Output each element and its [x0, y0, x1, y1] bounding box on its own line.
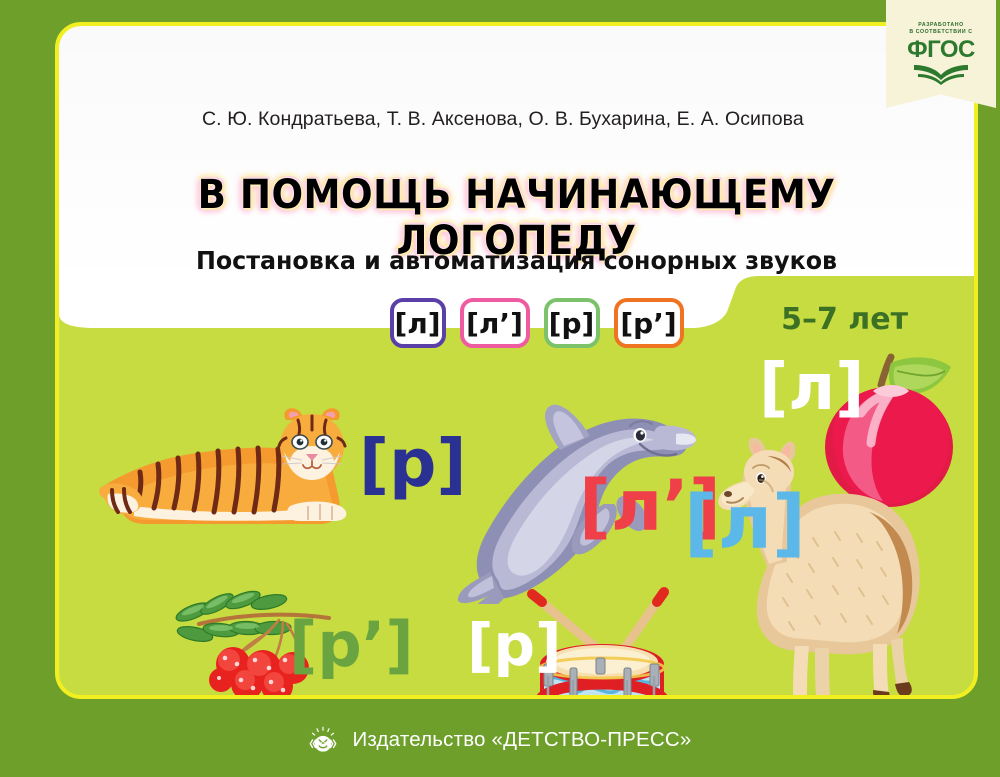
phoneme-label-drum: [р]: [467, 616, 562, 674]
llama-illustration: [689, 438, 949, 699]
fgos-subtitle-line1: РАЗРАБОТАНО: [886, 22, 996, 29]
tiger-illustration: [94, 394, 384, 549]
phoneme-chip-r-soft: [р’]: [614, 298, 684, 348]
publisher-logo-icon: [308, 725, 338, 755]
phoneme-chip-r: [р]: [544, 298, 600, 348]
book-subtitle: Постановка и автоматизация сонорных звук…: [82, 246, 951, 275]
phoneme-chip-l-soft: [л’]: [460, 298, 530, 348]
fgos-badge: РАЗРАБОТАНО В СООТВЕТСТВИИ С ФГОС: [886, 0, 996, 108]
phoneme-chip-label: [р’]: [620, 307, 676, 340]
phoneme-label-rowan: [р’]: [289, 614, 414, 676]
book-cover: [р]: [0, 0, 1000, 777]
authors-line: С. Ю. Кондратьева, Т. В. Аксенова, О. В.…: [202, 108, 804, 131]
phoneme-chip-label: [р]: [549, 307, 595, 340]
phoneme-label-llama: [л]: [684, 486, 806, 560]
open-book-icon: [912, 63, 970, 85]
phoneme-label-apple: [л]: [759, 356, 864, 420]
age-range-badge: 5–7 лет: [781, 302, 908, 337]
phoneme-label-tiger: [р]: [359, 431, 467, 497]
fgos-subtitle-line2: В СООТВЕТСТВИИ С: [886, 29, 996, 36]
publisher-footer: Издательство «ДЕТСТВО-ПРЕСС»: [0, 703, 1000, 777]
phoneme-chip-label: [л’]: [466, 307, 523, 340]
publisher-name: Издательство «ДЕТСТВО-ПРЕСС»: [352, 728, 691, 752]
phoneme-chip-label: [л]: [394, 307, 440, 340]
illustration-area: [р]: [59, 326, 974, 699]
fgos-acronym: ФГОС: [886, 38, 996, 62]
phoneme-chip-l: [л]: [390, 298, 446, 348]
inner-panel: [р]: [55, 22, 978, 699]
